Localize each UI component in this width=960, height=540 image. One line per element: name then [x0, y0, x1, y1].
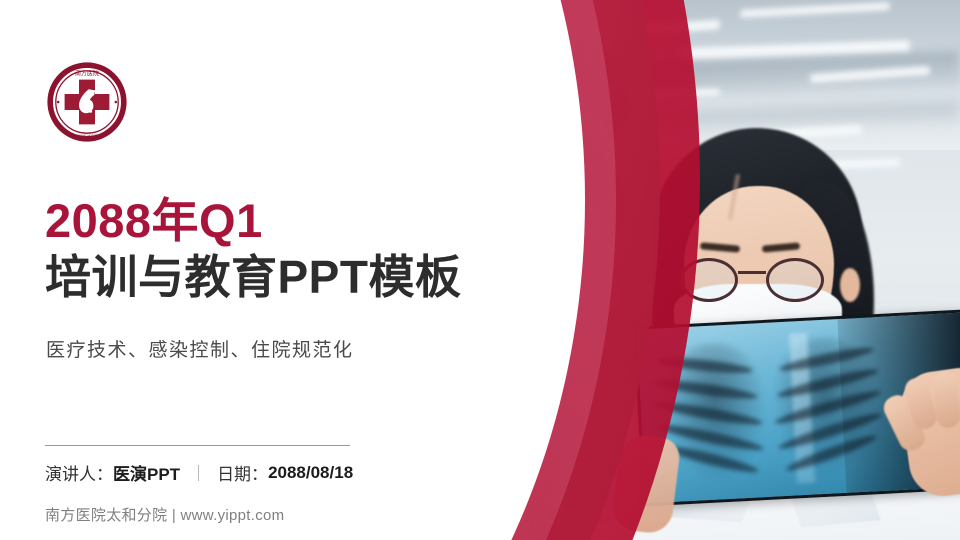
content-divider	[45, 445, 350, 446]
page-title-year: 2088年Q1	[45, 196, 263, 245]
page-subtitle: 医疗技术、感染控制、住院规范化	[46, 335, 354, 362]
svg-text:NANFANG HOSPITAL: NANFANG HOSPITAL	[73, 133, 101, 137]
presentation-cover-slide: 南方医院 NANFANG HOSPITAL 2088年Q1 培训与教育PPT模板…	[0, 0, 960, 540]
female-doctor-ear	[840, 268, 860, 302]
page-title-main: 培训与教育PPT模板	[45, 252, 461, 303]
footer-organization: 南方医院太和分院 | www.yippt.com	[45, 504, 284, 525]
svg-text:南方医院: 南方医院	[75, 70, 99, 78]
presenter-name: 医演PPT	[113, 460, 180, 485]
presenter-meta-row: 演讲人： 医演PPT 日期： 2088/08/18	[45, 460, 353, 485]
slide-content: 南方医院 NANFANG HOSPITAL 2088年Q1 培训与教育PPT模板…	[0, 0, 440, 540]
date-value: 2088/08/18	[268, 463, 353, 483]
glasses-lens-right	[766, 258, 824, 302]
date-label: 日期：	[217, 460, 268, 485]
glasses-bridge	[738, 271, 766, 274]
hospital-logo: 南方医院 NANFANG HOSPITAL	[47, 62, 127, 142]
meta-separator	[198, 465, 199, 481]
female-doctor-glasses	[680, 258, 834, 304]
presenter-label: 演讲人：	[45, 460, 113, 485]
